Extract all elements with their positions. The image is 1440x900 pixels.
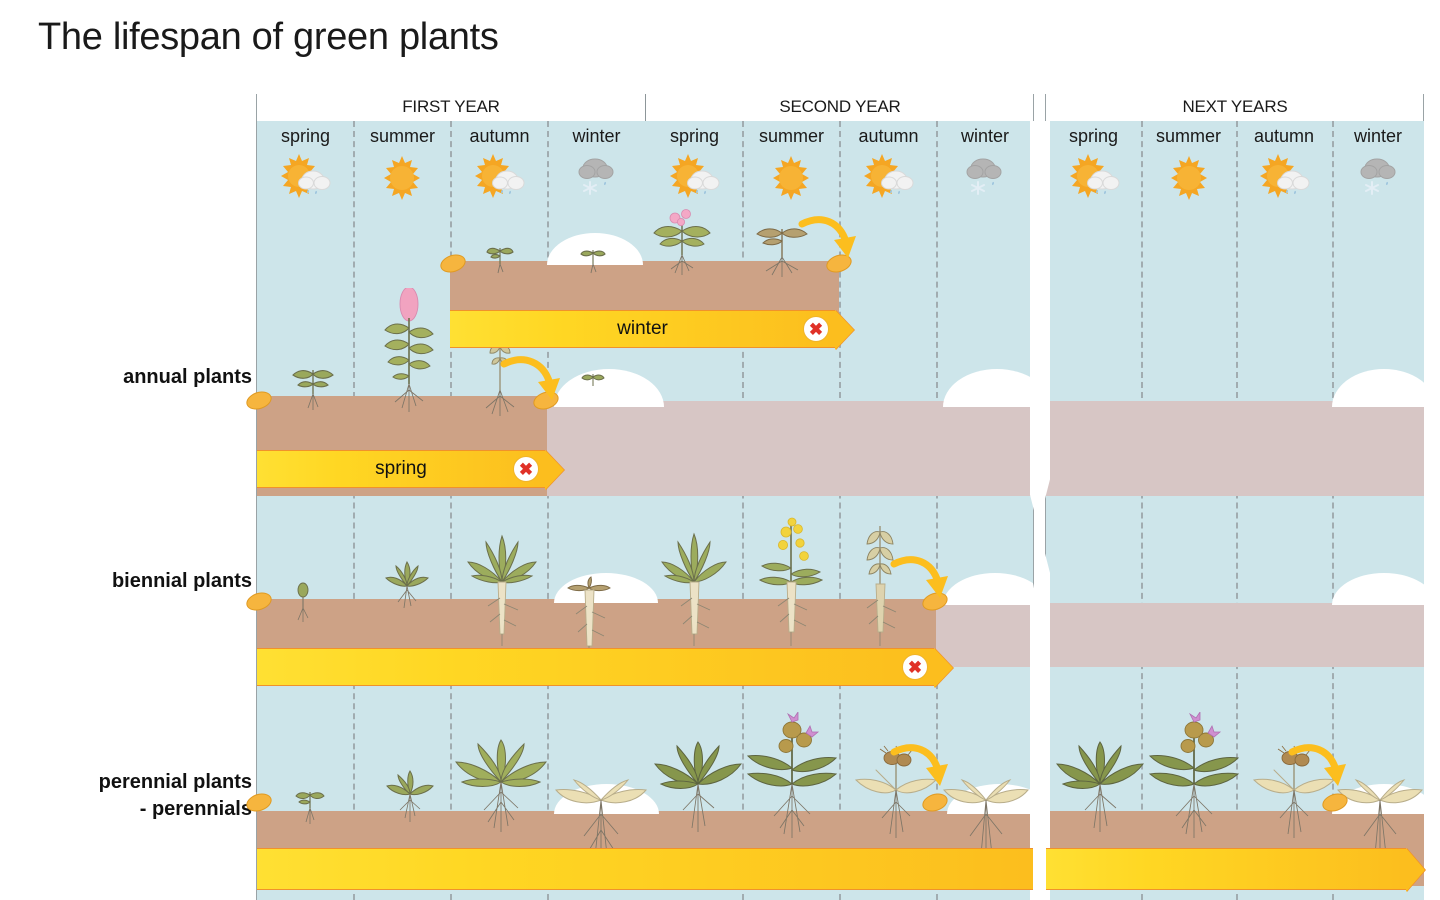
soil-annual-faded: [547, 401, 1033, 496]
x-badge: ✖: [902, 654, 928, 680]
row-label-annual: annual plants: [123, 364, 252, 390]
snow-mound: [943, 369, 1033, 407]
lifecycle-bar-label: spring: [375, 458, 427, 480]
bar-arrow-tip: [545, 450, 564, 490]
plant-annual-upper-winter-seedling: [573, 242, 613, 276]
sun-icon: [374, 150, 430, 202]
cloud-with-snow-icon: [956, 150, 1012, 202]
sun-behind-cloud-with-rain-icon: [277, 150, 333, 202]
season-label-y1-summer: summer: [354, 123, 451, 149]
sun-behind-cloud-with-rain-icon: [1256, 150, 1312, 202]
plant-annual-seedling: [285, 358, 341, 410]
row-label-biennial: biennial plants: [112, 568, 252, 594]
plant-biennial-germinating: [288, 580, 318, 622]
page-title: The lifespan of green plants: [38, 16, 499, 59]
bar-arrow-tip: [835, 310, 854, 350]
lifecycle-bar-annual-spring[interactable]: spring ✖: [257, 450, 545, 488]
curved-arrow-biennial: [890, 552, 952, 606]
sun-behind-cloud-with-rain-icon: [860, 150, 916, 202]
lifecycle-bar-perennial-next[interactable]: [1046, 848, 1406, 890]
season-label-yn-spring: spring: [1046, 123, 1141, 149]
year-header-first: FIRST YEAR: [257, 94, 645, 124]
bar-arrow-tip: [1406, 848, 1425, 892]
plant-perennial-y2-flowering: [740, 712, 844, 838]
plant-annual-upper-flowering: [645, 205, 719, 277]
cloud-with-snow-icon: [568, 150, 624, 202]
sun-behind-cloud-with-rain-icon: [471, 150, 527, 202]
sun-behind-cloud-with-rain-icon: [666, 150, 722, 202]
plant-biennial-rosette-large: [460, 530, 544, 646]
plant-perennial-seedling: [288, 782, 332, 824]
season-label-y2-autumn: autumn: [840, 123, 937, 149]
plant-biennial-y2-rosette: [655, 528, 733, 646]
season-divider: [353, 121, 355, 900]
season-label-y1-autumn: autumn: [451, 123, 548, 149]
lifecycle-bar-biennial[interactable]: ✖: [257, 648, 934, 686]
season-label-yn-summer: summer: [1141, 123, 1236, 149]
plant-perennial-young: [380, 766, 440, 824]
plant-perennial-next-regrow: [1052, 740, 1148, 832]
curved-arrow-annual-upper: [798, 212, 860, 266]
lifespan-infographic: The lifespan of green plants FIRST YEAR …: [0, 0, 1440, 900]
x-badge: ✖: [803, 316, 829, 342]
sun-behind-cloud-with-rain-icon: [1066, 150, 1122, 202]
plant-annual-flowering: [375, 288, 443, 412]
lifecycle-bar-annual-winter[interactable]: winter ✖: [450, 310, 835, 348]
snow-mound: [943, 573, 1033, 605]
season-label-y2-winter: winter: [937, 123, 1033, 149]
snow-mound: [1332, 573, 1424, 605]
season-label-yn-autumn: autumn: [1236, 123, 1332, 149]
plant-annual-winter-dead: [575, 368, 611, 396]
curved-arrow-annual: [500, 352, 564, 406]
season-label-y2-spring: spring: [646, 123, 743, 149]
season-label-yn-winter: winter: [1332, 123, 1424, 149]
row-label-perennial-line1: perennial plants: [99, 769, 252, 795]
curved-arrow-perennial-next: [1288, 740, 1350, 794]
row-label-perennial-line2: - perennials: [140, 796, 252, 822]
curved-arrow-perennial: [890, 740, 952, 794]
season-label-y1-winter: winter: [548, 123, 645, 149]
plant-perennial-rosette: [450, 736, 552, 832]
cloud-with-snow-icon: [1350, 150, 1406, 202]
season-label-y1-spring: spring: [257, 123, 354, 149]
soil-annual-faded-next: [1046, 401, 1424, 496]
season-label-y2-summer: summer: [743, 123, 840, 149]
plant-biennial-flowering: [748, 512, 834, 646]
plant-biennial-rosette-small: [378, 556, 436, 622]
snow-mound: [1332, 369, 1424, 407]
soil-biennial-faded-next: [1046, 603, 1424, 667]
sun-icon: [1161, 150, 1217, 202]
lifecycle-bar-label: winter: [617, 318, 668, 340]
plant-perennial-next-flowering: [1142, 712, 1246, 838]
sun-icon: [763, 150, 819, 202]
bar-arrow-tip: [934, 648, 953, 688]
year-header-next: NEXT YEARS: [1046, 94, 1424, 124]
lifecycle-bar-perennial[interactable]: [257, 848, 1033, 890]
year-header-second: SECOND YEAR: [646, 94, 1034, 124]
x-badge: ✖: [513, 456, 539, 482]
plant-annual-upper-seedling: [478, 240, 522, 276]
plant-perennial-y2-regrow: [650, 740, 746, 832]
